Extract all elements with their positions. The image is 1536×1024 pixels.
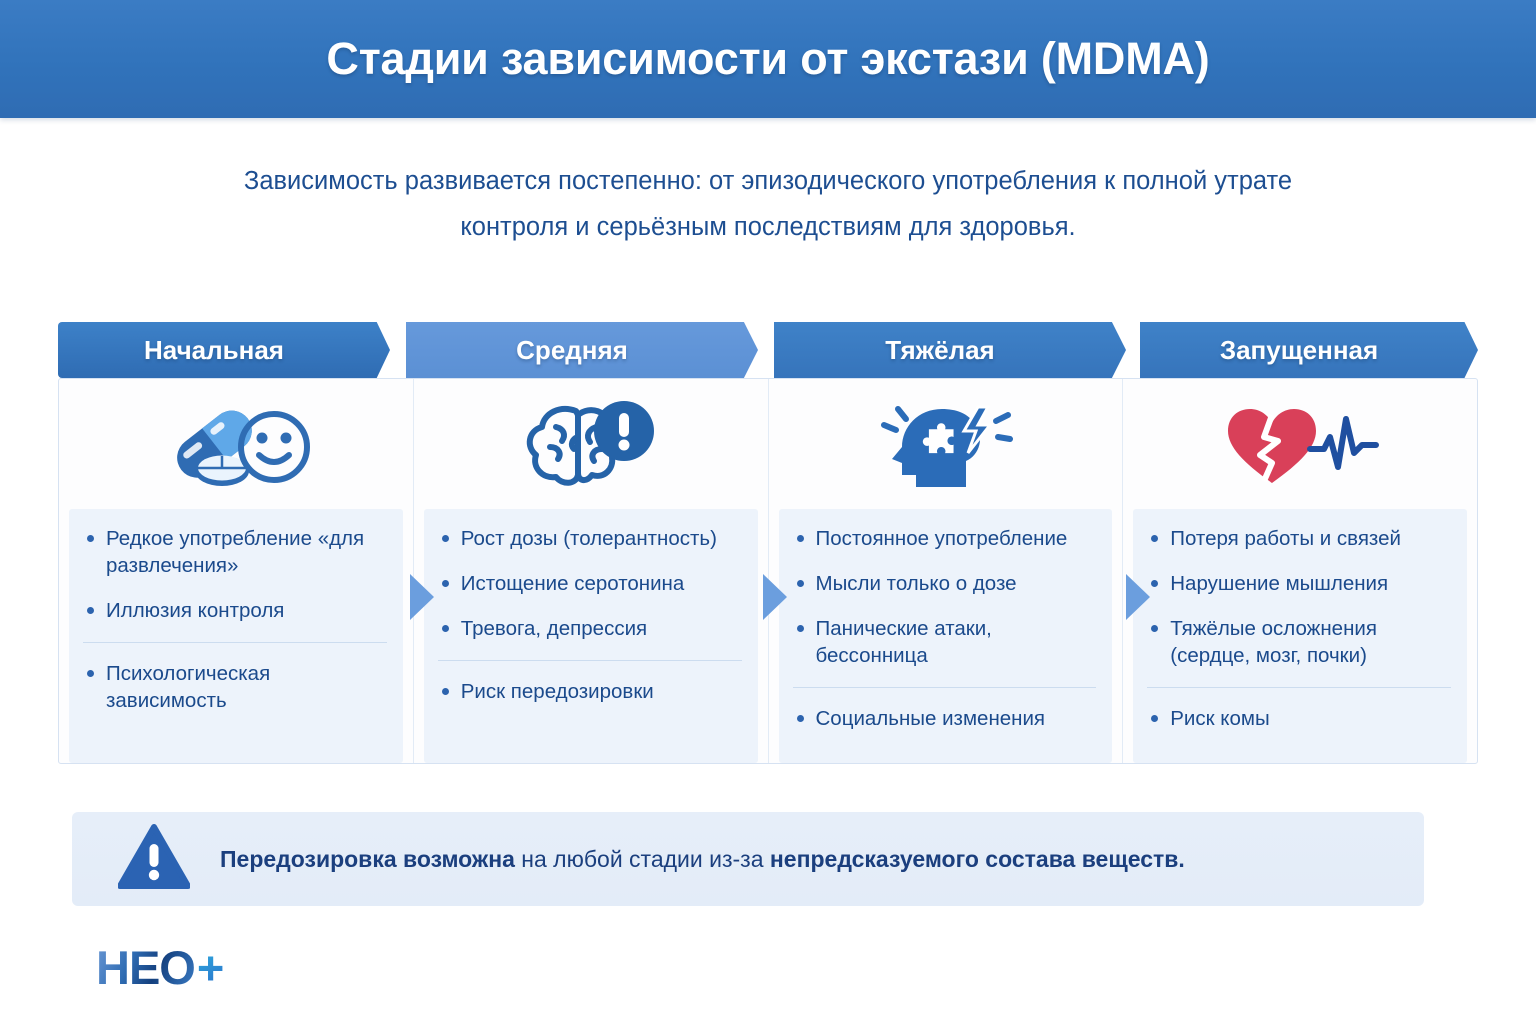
bullet-item: Тревога, депрессия — [438, 615, 742, 642]
warning-middle: на любой стадии из-за — [515, 846, 770, 872]
bullet-item: Потеря работы и связей — [1147, 525, 1451, 552]
stage-header-2[interactable]: Средняя — [406, 322, 758, 378]
stage-headers: Начальная Средняя Тяжёлая Запущенная — [58, 322, 1478, 378]
bullet-item: Постоянное употребление — [793, 525, 1097, 552]
logo-wordmark: НЕО — [96, 940, 195, 995]
stage-header-3[interactable]: Тяжёлая — [774, 322, 1126, 378]
stage-header-label-1: Начальная — [144, 335, 284, 366]
warning-bold-end: непредсказуемого состава веществ. — [770, 846, 1185, 872]
pills-smiley-icon — [156, 393, 316, 497]
stage-column-1: Редкое употребление «для развлечения» Ил… — [59, 379, 414, 763]
bullet-item: Риск передозировки — [438, 660, 742, 705]
stage-bullets-1: Редкое употребление «для развлечения» Ил… — [69, 509, 403, 763]
head-puzzle-lightning-icon — [870, 393, 1020, 497]
stage-bullets-3: Постоянное употребление Мысли только о д… — [779, 509, 1113, 763]
stage-header-label-2: Средняя — [516, 335, 628, 366]
bullet-item: Истощение серотонина — [438, 570, 742, 597]
brand-logo[interactable]: НЕО + — [96, 940, 224, 995]
bullet-item: Нарушение мышления — [1147, 570, 1451, 597]
bullet-item: Психологическая зависимость — [83, 642, 387, 714]
warning-banner: Передозировка возможна на любой стадии и… — [72, 812, 1424, 906]
broken-heart-ecg-icon — [1220, 393, 1380, 497]
bullet-item: Панические атаки, бессонница — [793, 615, 1097, 669]
brain-alert-icon — [516, 393, 666, 497]
stage-bullets-4: Потеря работы и связей Нарушение мышлени… — [1133, 509, 1467, 763]
stage-header-1[interactable]: Начальная — [58, 322, 390, 378]
stage-connector-arrow-1 — [410, 574, 434, 620]
stage-header-label-4: Запущенная — [1220, 335, 1378, 366]
warning-bold-start: Передозировка возможна — [220, 846, 515, 872]
bullet-item: Рост дозы (толерантность) — [438, 525, 742, 552]
stage-column-4: Потеря работы и связей Нарушение мышлени… — [1123, 379, 1477, 763]
warning-triangle-icon — [118, 824, 190, 895]
page-title: Стадии зависимости от экстази (MDMA) — [326, 33, 1209, 85]
stage-header-label-3: Тяжёлая — [885, 335, 994, 366]
page-header: Стадии зависимости от экстази (MDMA) — [0, 0, 1536, 118]
warning-text: Передозировка возможна на любой стадии и… — [220, 846, 1185, 873]
bullet-item: Риск комы — [1147, 687, 1451, 732]
bullet-item: Иллюзия контроля — [83, 597, 387, 624]
subtitle-line-2: контроля и серьёзным последствиям для зд… — [460, 213, 1075, 241]
subtitle-line-1: Зависимость развивается постепенно: от э… — [244, 167, 1292, 195]
stage-header-4[interactable]: Запущенная — [1140, 322, 1478, 378]
stage-connector-arrow-3 — [1126, 574, 1150, 620]
bullet-item: Тяжёлые осложнения (сердце, мозг, почки) — [1147, 615, 1451, 669]
logo-plus-icon: + — [197, 940, 224, 995]
stages-section: Начальная Средняя Тяжёлая Запущенная — [58, 322, 1478, 762]
bullet-item: Социальные изменения — [793, 687, 1097, 732]
subtitle: Зависимость развивается постепенно: от э… — [168, 158, 1368, 250]
stage-connector-arrow-2 — [763, 574, 787, 620]
stage-bullets-2: Рост дозы (толерантность) Истощение серо… — [424, 509, 758, 763]
bullet-item: Редкое употребление «для развлечения» — [83, 525, 387, 579]
stage-column-2: Рост дозы (толерантность) Истощение серо… — [414, 379, 769, 763]
stage-column-3: Постоянное употребление Мысли только о д… — [769, 379, 1124, 763]
stages-panel: Редкое употребление «для развлечения» Ил… — [58, 378, 1478, 764]
bullet-item: Мысли только о дозе — [793, 570, 1097, 597]
